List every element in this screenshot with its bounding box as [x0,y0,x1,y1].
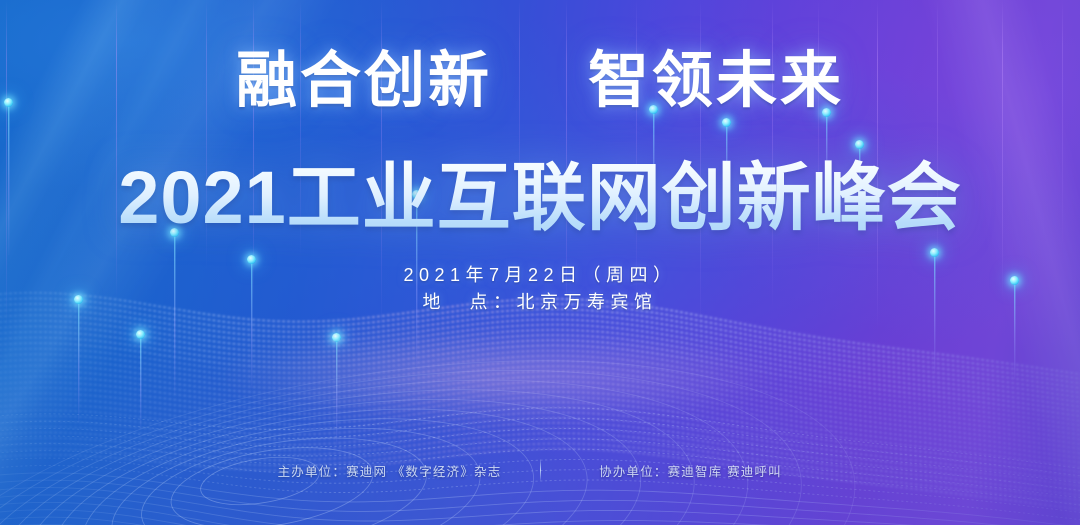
footer-co-organizer: 协办单位：赛迪智库 赛迪呼叫 [541,461,841,480]
poster-meta-block: 2021年7月22日（周四） 地 点：北京万寿宾馆 [0,262,1080,316]
event-location: 地 点：北京万寿宾馆 [0,288,1080,316]
poster-footer: 主办单位：赛迪网 《数字经济》杂志 协办单位：赛迪智库 赛迪呼叫 [0,459,1080,481]
footer-host-organizer: 主办单位：赛迪网 《数字经济》杂志 [240,461,540,480]
event-date: 2021年7月22日（周四） [0,262,1080,288]
event-poster: 融合创新智领未来 2021工业互联网创新峰会 2021年7月22日（周四） 地 … [0,0,1080,525]
headline-right: 智领未来 [588,46,844,114]
poster-headline: 融合创新智领未来 [0,30,1080,119]
headline-left: 融合创新 [236,46,492,114]
poster-main-title: 2021工业互联网创新峰会 [0,138,1080,245]
